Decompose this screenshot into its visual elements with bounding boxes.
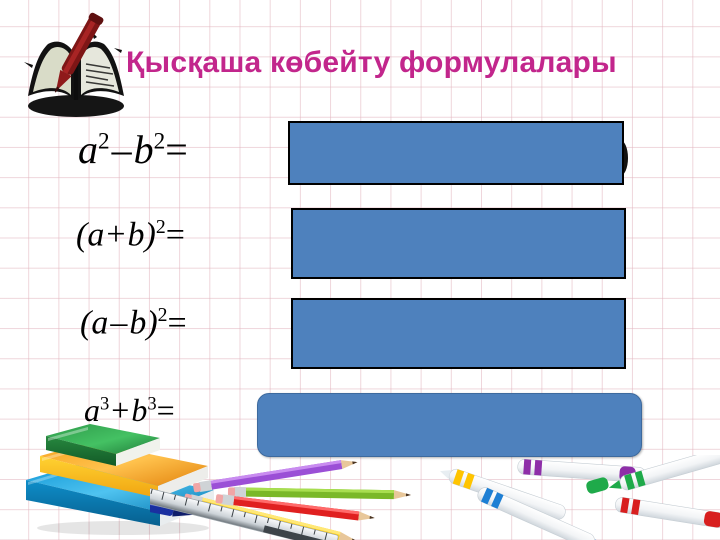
page-title: Қысқаша көбейту формулалары <box>126 48 716 78</box>
formula2-operator: + <box>104 216 127 253</box>
answer-cover-box-3[interactable] <box>291 298 626 369</box>
formula2-term-b: b <box>128 216 145 253</box>
formula1-term-b: b <box>134 127 154 172</box>
formula3-term-b: b <box>129 304 146 341</box>
formula3-exponent: 2 <box>158 304 168 326</box>
formula3-term-a: a <box>91 304 108 341</box>
formula-square-of-sum: (a+b)2= <box>76 218 185 252</box>
formula-sum-of-cubes: a3+b3= <box>84 394 175 426</box>
formula-square-of-difference: (a–b)2= <box>80 306 187 340</box>
formula2-equals-sign: = <box>166 216 185 253</box>
formula4-equals-sign: = <box>157 392 175 428</box>
formula2-term-a: a <box>87 216 104 253</box>
formula4-exponent-b: 3 <box>147 393 156 414</box>
formula2-close-paren: ) <box>145 216 156 253</box>
formula1-operator: – <box>110 127 134 172</box>
open-book-with-pen-icon <box>18 8 134 118</box>
pencil-purple <box>193 457 359 493</box>
formula-difference-of-squares: a2–b2= <box>78 130 188 170</box>
formula3-equals-sign: = <box>168 304 187 341</box>
formula3-open-paren: ( <box>80 304 91 341</box>
formula3-close-paren: ) <box>146 304 157 341</box>
formula4-term-a: a <box>84 392 100 428</box>
formula2-exponent: 2 <box>156 216 166 238</box>
formula1-term-a: a <box>78 127 98 172</box>
answer-cover-box-4[interactable] <box>257 393 642 457</box>
formula4-operator: + <box>109 392 131 428</box>
formula4-term-b: b <box>131 392 147 428</box>
formula1-exponent-a: 2 <box>98 129 110 155</box>
formula3-operator: – <box>108 304 129 341</box>
marker-blue <box>476 485 610 540</box>
formula1-equals-sign: = <box>165 127 188 172</box>
pencil-green <box>228 487 411 500</box>
formula1-exponent-b: 2 <box>154 129 166 155</box>
marker-red <box>614 496 720 528</box>
formula2-open-paren: ( <box>76 216 87 253</box>
stationery-clipart <box>150 455 720 540</box>
slide-canvas: Қысқаша көбейту формулалары a2–b2= (a+b)… <box>0 0 720 540</box>
formula4-exponent-a: 3 <box>100 393 109 414</box>
answer-cover-box-2[interactable] <box>291 208 626 279</box>
answer-cover-box-1[interactable] <box>288 121 624 185</box>
